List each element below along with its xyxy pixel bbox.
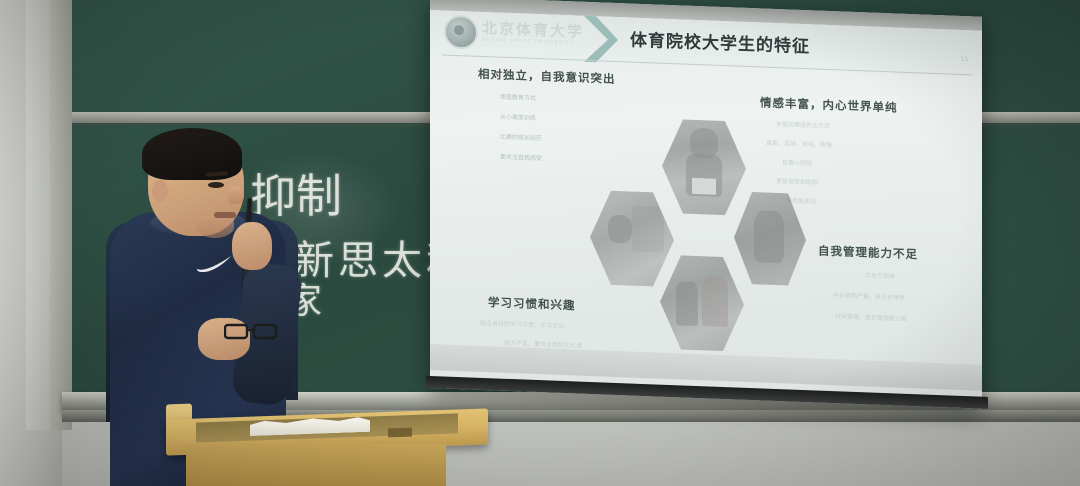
weightlifting-photo (734, 189, 806, 288)
nike-swoosh-icon (196, 256, 232, 272)
section-heading: 情感丰富，内心世界单纯 (760, 94, 898, 115)
hexagon-photo-cluster (582, 114, 832, 343)
presenter-chin (196, 216, 234, 238)
section-bullet: 时间管理、目标管理能力弱 (824, 311, 918, 326)
section-heading: 自我管理能力不足 (818, 243, 918, 263)
projection-screen: 北京体育大学 BEIJING SPORT UNIVERSITY 体育院校大学生的… (430, 0, 982, 409)
team-athletes-photo (660, 253, 744, 354)
female-runner-photo (662, 117, 746, 218)
classroom-lecture-scene: 抑制 中 创新思太和耳 家 北京体育大学 BEIJING SPORT UNIVE… (0, 0, 1080, 486)
presenter-ear (152, 180, 168, 202)
section-heading: 相对独立，自我意识突出 (478, 66, 616, 87)
slide-body: 相对独立，自我意识突出 家庭教育方式 从小离家训练 比赛的成长经历 更关注自我感… (430, 56, 982, 361)
section-study-habits: 学习习惯和兴趣 缺乏良好的学习习惯，学习主动 动力不足；重专业而轻文化课 (488, 294, 582, 352)
section-self-management: 自我管理能力不足 作息不规律 手机依赖严重，缺乏自律性 时间管理、目标管理能力弱 (818, 243, 918, 326)
presenter-mouth (214, 212, 236, 218)
slide-page-number: 13 (960, 56, 968, 63)
section-bullet: 作息不规律 (842, 269, 918, 283)
eyeglasses-icon[interactable] (224, 322, 278, 344)
presenter-right-hand (232, 222, 272, 270)
section-heading: 学习习惯和兴趣 (488, 294, 582, 314)
lectern-badge (388, 428, 412, 438)
chalkboard-left-frame (50, 0, 72, 430)
slide-title: 体育院校大学生的特征 (630, 26, 810, 58)
student-at-desk-photo (590, 188, 674, 289)
section-bullet: 手机依赖严重，缺乏自律性 (820, 290, 918, 305)
chevron-right-icon (578, 14, 618, 66)
chalkboard-left-wall-edge (26, 0, 52, 430)
presentation-slide: 北京体育大学 BEIJING SPORT UNIVERSITY 体育院校大学生的… (430, 10, 982, 361)
university-seal-icon (444, 15, 478, 50)
presenter-nose (228, 186, 244, 204)
lectern-body (186, 444, 446, 486)
section-bullet: 家庭教育方式 (500, 92, 616, 107)
presenter-eye (208, 182, 224, 188)
section-bullet: 缺乏良好的学习习惯，学习主动 (480, 318, 582, 333)
